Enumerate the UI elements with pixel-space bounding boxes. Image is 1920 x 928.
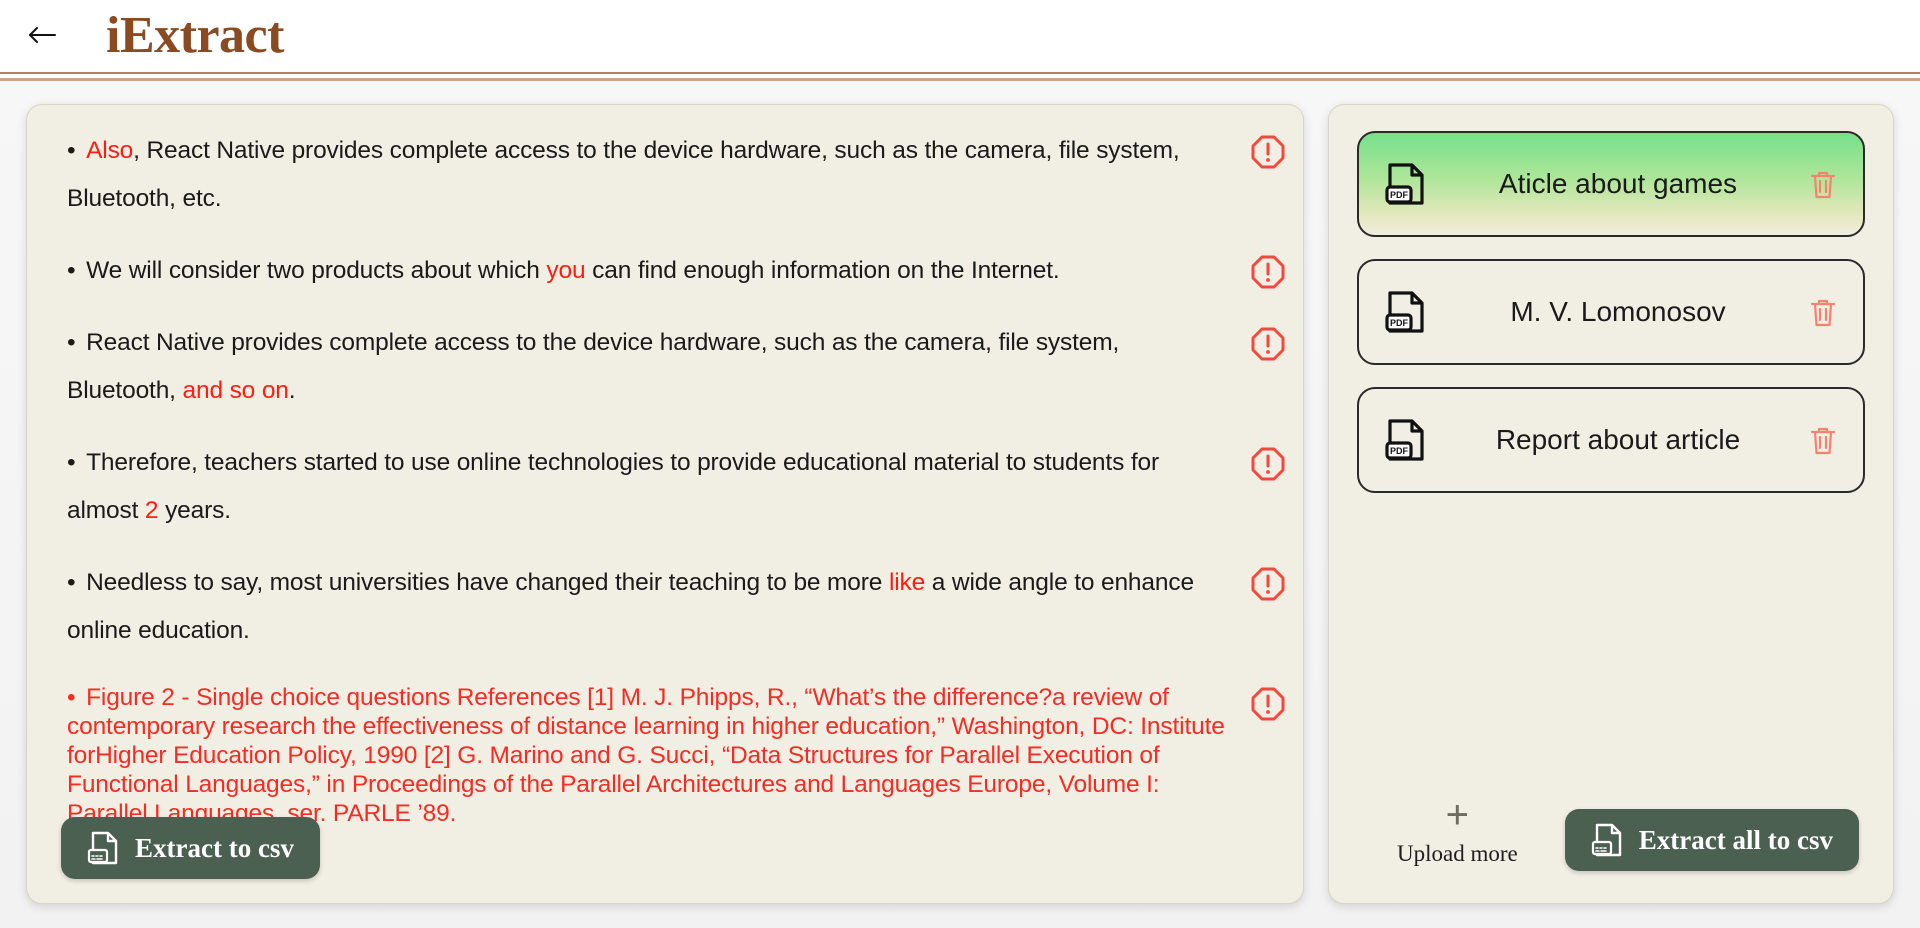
highlighted-text: you bbox=[546, 257, 585, 284]
trash-icon[interactable] bbox=[1809, 424, 1837, 456]
highlighted-text: and so on bbox=[183, 377, 289, 404]
file-list: PDFAticle about gamesPDFM. V. LomonosovP… bbox=[1357, 131, 1865, 515]
arrow-left-icon bbox=[27, 23, 57, 50]
sentence-row: • Figure 2 - Single choice questions Ref… bbox=[67, 679, 1285, 828]
trash-icon[interactable] bbox=[1809, 168, 1837, 200]
app-header: iExtract bbox=[0, 0, 1920, 72]
warning-octagon-icon[interactable] bbox=[1251, 327, 1285, 361]
extract-to-csv-button[interactable]: Extract to csv bbox=[61, 817, 320, 879]
plain-text: . bbox=[289, 377, 296, 404]
pdf-file-icon: PDF bbox=[1385, 161, 1427, 207]
csv-file-icon bbox=[1591, 822, 1625, 858]
file-name-label: Aticle about games bbox=[1427, 168, 1809, 200]
sentence-row: • Therefore, teachers started to use onl… bbox=[67, 439, 1285, 535]
extract-all-to-csv-label: Extract all to csv bbox=[1639, 825, 1833, 856]
sentence-list: • Also, React Native provides complete a… bbox=[67, 127, 1285, 852]
pdf-file-icon: PDF bbox=[1385, 289, 1427, 335]
csv-file-icon bbox=[87, 830, 121, 866]
sentence-text: • We will consider two products about wh… bbox=[67, 247, 1233, 295]
warning-octagon-icon[interactable] bbox=[1251, 567, 1285, 601]
sentence-text: • Therefore, teachers started to use onl… bbox=[67, 439, 1233, 535]
svg-text:PDF: PDF bbox=[1390, 190, 1409, 200]
highlighted-text: 2 bbox=[145, 497, 158, 524]
sentence-row: • React Native provides complete access … bbox=[67, 319, 1285, 415]
bullet-marker: • bbox=[67, 569, 82, 596]
back-button[interactable] bbox=[18, 12, 66, 60]
documents-panel-footer: + Upload more Extract all to csv bbox=[1357, 801, 1865, 877]
highlighted-text: Figure 2 - Single choice questions Refer… bbox=[67, 684, 1225, 827]
bullet-marker: • bbox=[67, 329, 82, 356]
page-body: • Also, React Native provides complete a… bbox=[0, 80, 1920, 928]
highlighted-text: like bbox=[889, 569, 925, 596]
file-card[interactable]: PDFReport about article bbox=[1357, 387, 1865, 493]
sentence-row: • We will consider two products about wh… bbox=[67, 247, 1285, 295]
plain-text: years. bbox=[158, 497, 230, 524]
sentence-text: • React Native provides complete access … bbox=[67, 319, 1233, 415]
bullet-marker: • bbox=[67, 137, 82, 164]
warning-octagon-icon[interactable] bbox=[1251, 687, 1285, 721]
sentence-row: • Also, React Native provides complete a… bbox=[67, 127, 1285, 223]
page-title: iExtract bbox=[106, 10, 284, 62]
sentence-row: • Needless to say, most universities hav… bbox=[67, 559, 1285, 655]
sentence-text: • Also, React Native provides complete a… bbox=[67, 127, 1233, 223]
highlighted-text: Also bbox=[86, 137, 133, 164]
svg-text:PDF: PDF bbox=[1390, 446, 1409, 456]
sentence-text: • Figure 2 - Single choice questions Ref… bbox=[67, 683, 1233, 828]
plain-text: can find enough information on the Inter… bbox=[585, 257, 1059, 284]
trash-icon[interactable] bbox=[1809, 296, 1837, 328]
plain-text: , React Native provides complete access … bbox=[67, 137, 1180, 212]
file-name-label: M. V. Lomonosov bbox=[1427, 296, 1809, 328]
header-divider bbox=[0, 72, 1920, 80]
warning-octagon-icon[interactable] bbox=[1251, 255, 1285, 289]
pdf-file-icon: PDF bbox=[1385, 417, 1427, 463]
plain-text: We will consider two products about whic… bbox=[86, 257, 546, 284]
extract-all-to-csv-button[interactable]: Extract all to csv bbox=[1565, 809, 1859, 871]
sentence-text: • Needless to say, most universities hav… bbox=[67, 559, 1233, 655]
upload-more-label: Upload more bbox=[1397, 841, 1518, 867]
svg-text:PDF: PDF bbox=[1390, 318, 1409, 328]
warning-octagon-icon[interactable] bbox=[1251, 447, 1285, 481]
extracted-sentences-panel: • Also, React Native provides complete a… bbox=[26, 104, 1304, 904]
file-card[interactable]: PDFM. V. Lomonosov bbox=[1357, 259, 1865, 365]
upload-more-button[interactable]: + Upload more bbox=[1397, 801, 1518, 867]
documents-panel: PDFAticle about gamesPDFM. V. LomonosovP… bbox=[1328, 104, 1894, 904]
file-card[interactable]: PDFAticle about games bbox=[1357, 131, 1865, 237]
file-name-label: Report about article bbox=[1427, 424, 1809, 456]
warning-octagon-icon[interactable] bbox=[1251, 135, 1285, 169]
extract-to-csv-label: Extract to csv bbox=[135, 833, 294, 864]
bullet-marker: • bbox=[67, 684, 82, 711]
bullet-marker: • bbox=[67, 449, 82, 476]
bullet-marker: • bbox=[67, 257, 82, 284]
plus-icon: + bbox=[1446, 801, 1469, 829]
plain-text: Needless to say, most universities have … bbox=[86, 569, 889, 596]
